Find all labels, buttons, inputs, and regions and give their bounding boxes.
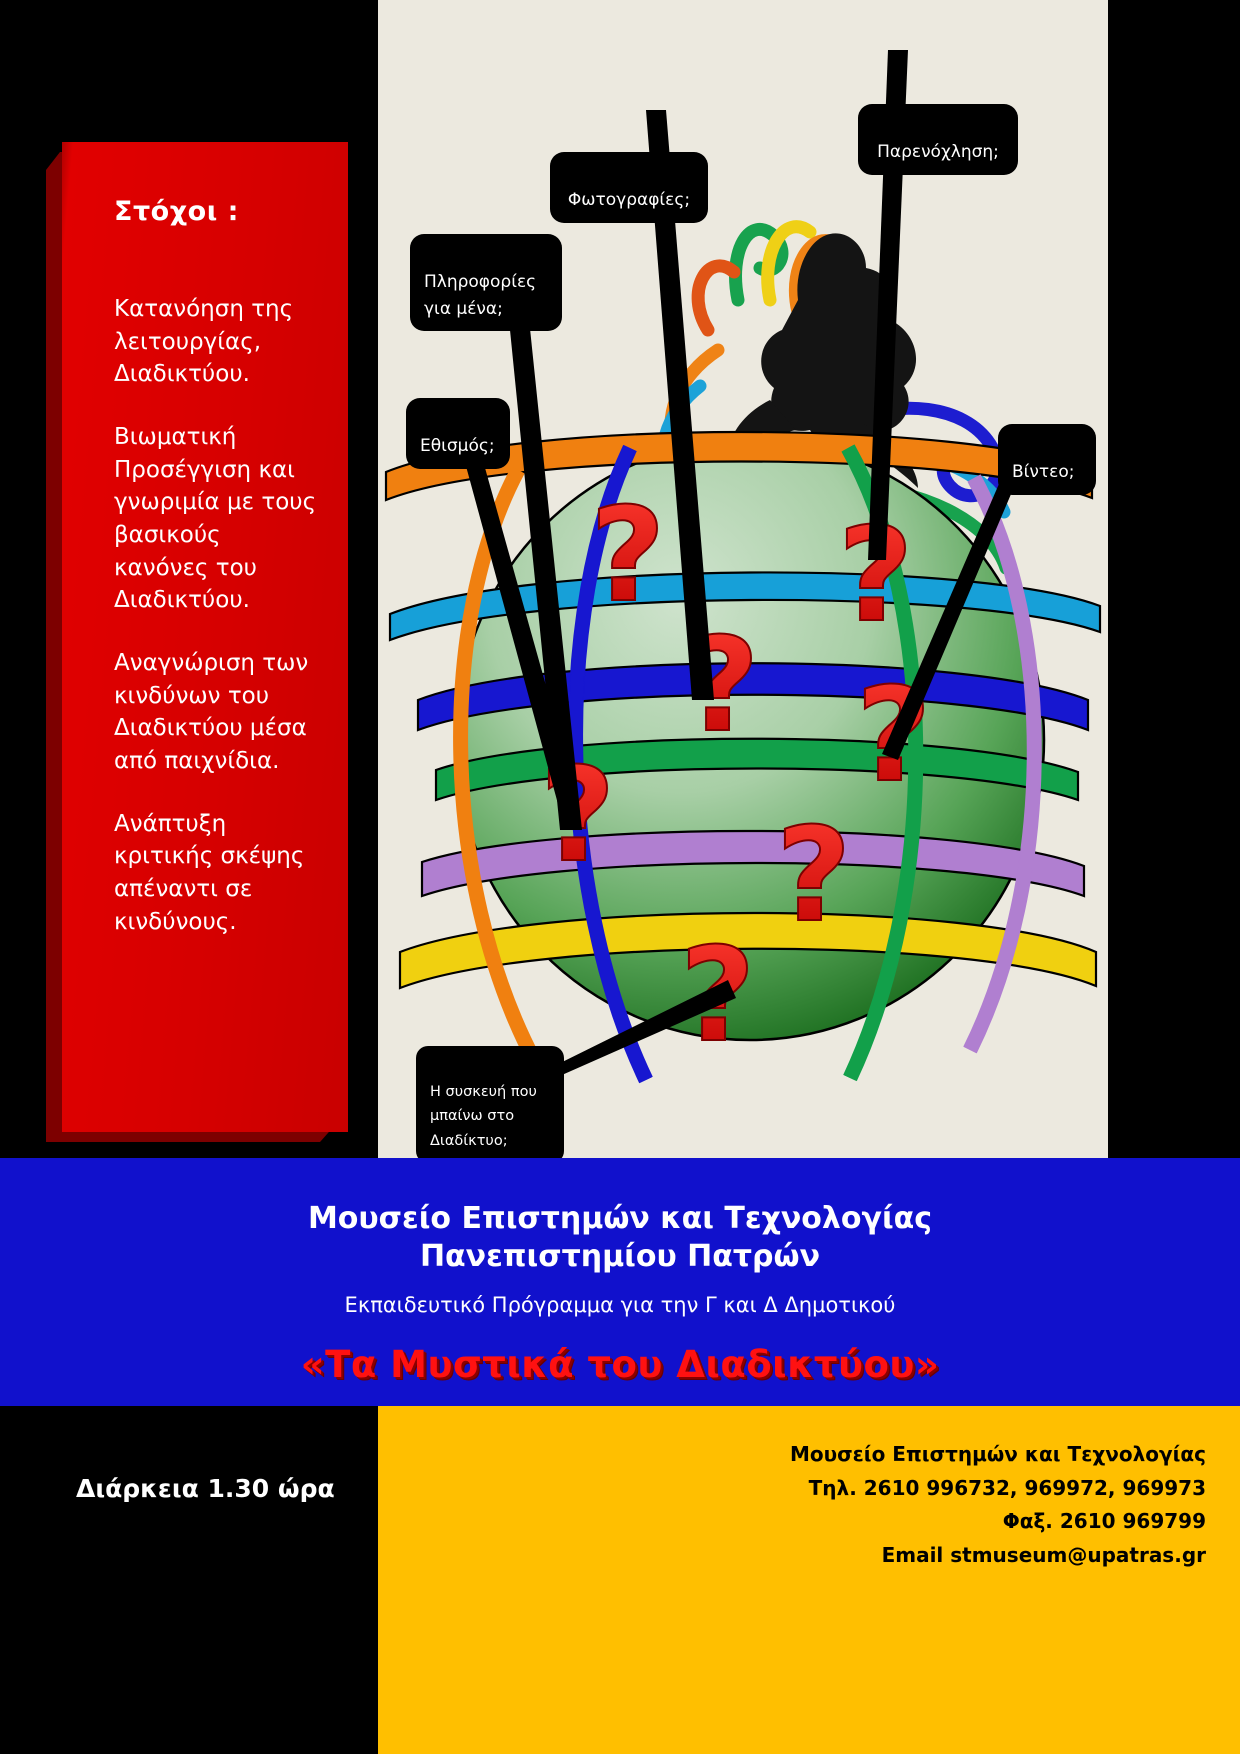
callout-video[interactable]: Βίντεο; xyxy=(998,424,1096,495)
callout-syskevi[interactable]: Η συσκευή που μπαίνω στο Διαδίκτυο; xyxy=(416,1046,564,1158)
contact-line: Τηλ. 2610 996732, 969972, 969973 xyxy=(790,1472,1206,1506)
program-title: «Τα Μυστικά του Διαδικτύου» xyxy=(0,1317,1240,1386)
duration-label: Διάρκεια 1.30 ώρα xyxy=(76,1474,335,1503)
objectives-panel: Στόχοι : Κατανόηση της λειτουργίας, Διαδ… xyxy=(62,142,348,1132)
objective-item: Ανάπτυξη κριτικής σκέψης απέναντι σε κιν… xyxy=(114,808,322,939)
callout-ethismos[interactable]: Εθισμός; xyxy=(406,398,510,469)
objective-item: Βιωματική Προσέγγιση και γνωριμία με του… xyxy=(114,421,322,617)
objective-item: Κατανόηση της λειτουργίας, Διαδικτύου. xyxy=(114,293,322,391)
contact-line: Μουσείο Επιστημών και Τεχνολογίας xyxy=(790,1438,1206,1472)
museum-name-line1: Μουσείο Επιστημών και Τεχνολογίας xyxy=(0,1158,1240,1238)
question-mark: ? xyxy=(590,479,665,631)
callout-label: Βίντεο; xyxy=(1012,462,1074,482)
callout-label: Εθισμός; xyxy=(420,436,495,456)
contact-line-email[interactable]: Email stmuseum@upatras.gr xyxy=(790,1539,1206,1573)
callout-label: Φωτογραφίες; xyxy=(568,190,690,210)
illustration-panel: ? ? ? ? ? ? ? xyxy=(378,0,1108,1158)
museum-name-line2: Πανεπιστημίου Πατρών xyxy=(0,1238,1240,1276)
museum-banner: Μουσείο Επιστημών και Τεχνολογίας Πανεπι… xyxy=(0,1158,1240,1406)
contact-line: Φαξ. 2610 969799 xyxy=(790,1505,1206,1539)
callout-label: Πληροφορίες για μένα; xyxy=(424,272,536,318)
right-black-margin xyxy=(1108,0,1240,1158)
objectives-heading: Στόχοι : xyxy=(114,196,322,227)
objective-item: Αναγνώριση των κινδύνων του Διαδικτύου μ… xyxy=(114,647,322,778)
contact-panel: Μουσείο Επιστημών και Τεχνολογίας Τηλ. 2… xyxy=(378,1406,1240,1754)
callout-parenochlisi[interactable]: Παρενόχληση; xyxy=(858,104,1018,175)
callout-plirofories[interactable]: Πληροφορίες για μένα; xyxy=(410,234,562,331)
callout-label: Παρενόχληση; xyxy=(877,142,999,162)
poster-root: ? ? ? ? ? ? ? xyxy=(0,0,1240,1754)
contact-lines: Μουσείο Επιστημών και Τεχνολογίας Τηλ. 2… xyxy=(790,1438,1206,1572)
callout-label: Η συσκευή που μπαίνω στο Διαδίκτυο; xyxy=(430,1084,537,1149)
question-mark: ? xyxy=(776,799,851,951)
program-subtitle: Εκπαιδευτικό Πρόγραμμα για την Γ και Δ Δ… xyxy=(0,1277,1240,1317)
callout-fotografies[interactable]: Φωτογραφίες; xyxy=(550,152,708,223)
